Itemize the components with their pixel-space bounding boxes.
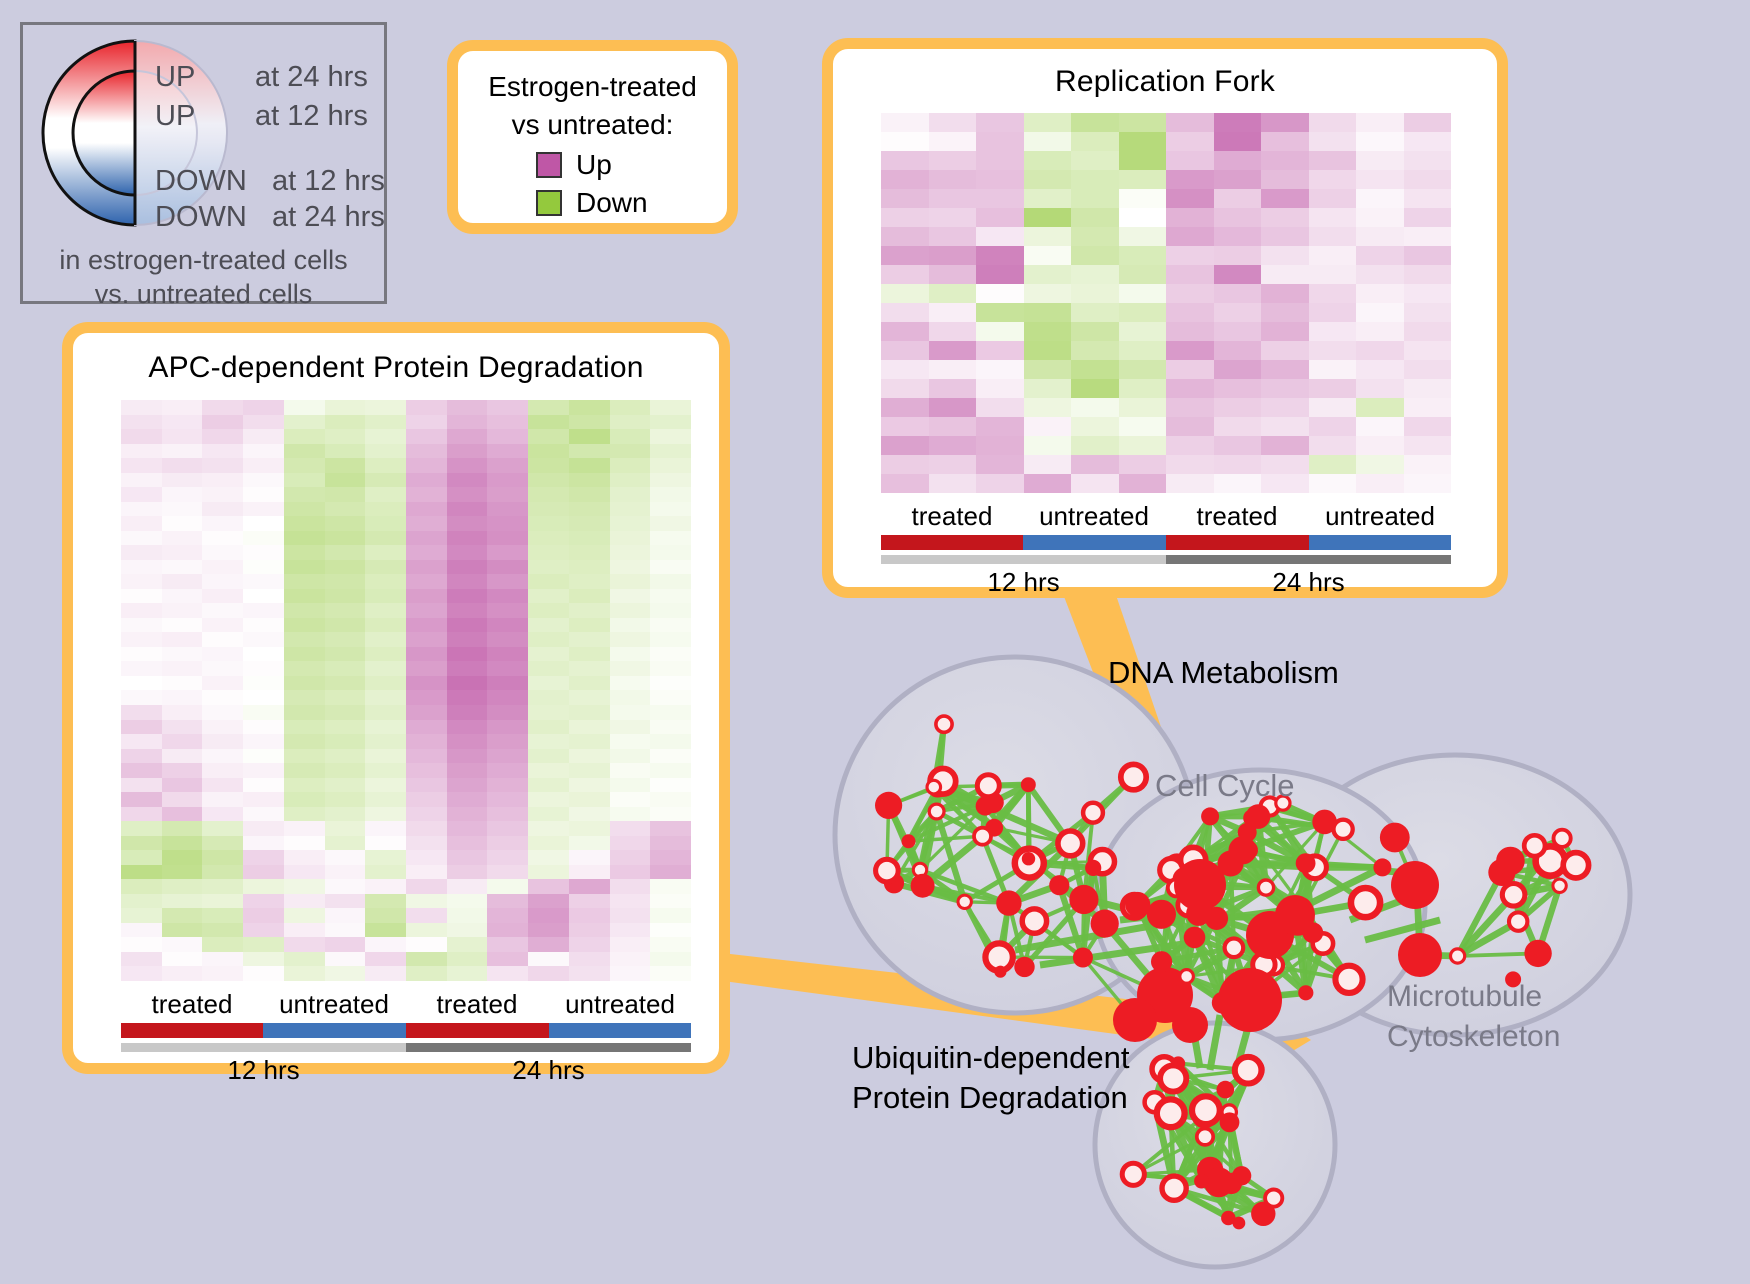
- heatmap-cell: [1071, 189, 1119, 208]
- heatmap-cell: [365, 937, 406, 952]
- heatmap-cell: [162, 763, 203, 778]
- heatmap-cell: [528, 850, 569, 865]
- heatmap-cell: [162, 821, 203, 836]
- heatmap-cell: [1356, 265, 1404, 284]
- heatmap-cell: [569, 618, 610, 633]
- heatmap-cell: [650, 807, 691, 822]
- heatmap-cell: [121, 894, 162, 909]
- heatmap-cell: [284, 792, 325, 807]
- heatmap-cell: [929, 208, 977, 227]
- heatmap-cell: [284, 734, 325, 749]
- heatmap-cell: [929, 398, 977, 417]
- heatmap-cell: [487, 574, 528, 589]
- heatmap-cell: [162, 502, 203, 517]
- heatmap-cell: [447, 908, 488, 923]
- heatmap-cell: [162, 647, 203, 662]
- heatmap-cell: [202, 807, 243, 822]
- heatmap-cell: [1261, 227, 1309, 246]
- heatmap-cell: [929, 265, 977, 284]
- heatmap-cell: [202, 937, 243, 952]
- heatmap-cell: [1214, 455, 1262, 474]
- heatmap-cell: [202, 618, 243, 633]
- heatmap-cell: [325, 415, 366, 430]
- heatmap-cell: [447, 923, 488, 938]
- heatmap-cell: [650, 429, 691, 444]
- heatmap-cell: [1166, 151, 1214, 170]
- heatmap-cell: [1356, 284, 1404, 303]
- heatmap-cell: [650, 894, 691, 909]
- heatmap-cell: [243, 734, 284, 749]
- heatmap-cell: [929, 417, 977, 436]
- heatmap-cell: [243, 632, 284, 647]
- heatmap-cell: [243, 690, 284, 705]
- heatmap-cell: [610, 632, 651, 647]
- heatmap-cell: [1214, 474, 1262, 493]
- apc-time-bar-12hrs: [121, 1043, 406, 1052]
- heatmap-cell: [650, 836, 691, 851]
- heatmap-cell: [365, 792, 406, 807]
- heatmap-cell: [447, 749, 488, 764]
- heatmap-cell: [929, 474, 977, 493]
- heatmap-cell: [1119, 151, 1167, 170]
- heatmap-cell: [365, 545, 406, 560]
- heatmap-cell: [243, 444, 284, 459]
- heatmap-cell: [202, 850, 243, 865]
- heatmap-cell: [121, 661, 162, 676]
- heatmap-replication-fork: [881, 113, 1451, 493]
- heatmap-cell: [610, 937, 651, 952]
- heatmap-cell: [1166, 436, 1214, 455]
- heatmap-cell: [881, 132, 929, 151]
- heatmap-cell: [528, 444, 569, 459]
- heatmap-cell: [284, 908, 325, 923]
- heatmap-cell: [569, 444, 610, 459]
- heatmap-cell: [447, 647, 488, 662]
- heatmap-cell: [1119, 208, 1167, 227]
- heatmap-cell: [162, 937, 203, 952]
- heatmap-cell: [365, 821, 406, 836]
- heatmap-cell: [610, 444, 651, 459]
- heatmap-cell: [1214, 284, 1262, 303]
- heatmap-cell: [1356, 398, 1404, 417]
- heatmap-cell: [610, 400, 651, 415]
- heatmap-cell: [1024, 265, 1072, 284]
- heatmap-cell: [121, 850, 162, 865]
- heatmap-cell: [1071, 436, 1119, 455]
- heatmap-cell: [284, 850, 325, 865]
- heatmap-cell: [1166, 417, 1214, 436]
- heatmap-cell: [610, 560, 651, 575]
- heatmap-cell: [976, 360, 1024, 379]
- heatmap-cell: [202, 821, 243, 836]
- heatmap-cell: [1071, 170, 1119, 189]
- heatmap-cell: [325, 473, 366, 488]
- heatmap-cell: [610, 850, 651, 865]
- heatmap-cell: [1309, 208, 1357, 227]
- heatmap-cell: [325, 444, 366, 459]
- heatmap-cell: [162, 574, 203, 589]
- heatmap-cell: [1309, 341, 1357, 360]
- heatmap-cell: [202, 400, 243, 415]
- heatmap-cell: [325, 952, 366, 967]
- heatmap-cell: [121, 502, 162, 517]
- heatmap-cell: [1166, 189, 1214, 208]
- heatmap-cell: [325, 647, 366, 662]
- heatmap-cell: [528, 865, 569, 880]
- heatmap-cell: [447, 865, 488, 880]
- heatmap-cell: [1309, 227, 1357, 246]
- heatmap-cell: [929, 303, 977, 322]
- heatmap-cell: [325, 429, 366, 444]
- heatmap-cell: [569, 720, 610, 735]
- heatmap-cell: [1356, 170, 1404, 189]
- heatmap-cell: [325, 937, 366, 952]
- heatmap-cell: [202, 487, 243, 502]
- heatmap-cell: [650, 458, 691, 473]
- rep-group-label-0: treated: [881, 501, 1023, 532]
- heatmap-cell: [881, 360, 929, 379]
- heatmap-cell: [650, 661, 691, 676]
- heatmap-cell: [121, 574, 162, 589]
- heatmap-cell: [243, 458, 284, 473]
- apc-group-bar-1: [263, 1023, 406, 1038]
- heatmap-cell: [365, 894, 406, 909]
- heatmap-cell: [528, 661, 569, 676]
- heatmap-cell: [881, 303, 929, 322]
- heatmap-cell: [881, 436, 929, 455]
- heatmap-cell: [202, 894, 243, 909]
- heatmap-cell: [650, 865, 691, 880]
- heatmap-cell: [1214, 379, 1262, 398]
- heatmap-cell: [202, 734, 243, 749]
- heatmap-cell: [650, 603, 691, 618]
- heatmap-cell: [487, 690, 528, 705]
- heatmap-cell: [243, 618, 284, 633]
- heatmap-cell: [162, 966, 203, 981]
- heatmap-cell: [610, 966, 651, 981]
- heatmap-cell: [365, 734, 406, 749]
- panel-replication-fork: Replication Fork treated untreated treat…: [822, 38, 1508, 598]
- heatmap-cell: [487, 415, 528, 430]
- heatmap-cell: [569, 792, 610, 807]
- heatmap-cell: [487, 952, 528, 967]
- cluster-label-cell-cycle: Cell Cycle: [1155, 768, 1295, 804]
- heatmap-cell: [569, 778, 610, 793]
- heatmap-cell: [569, 560, 610, 575]
- heatmap-cell: [650, 618, 691, 633]
- heatmap-cell: [929, 322, 977, 341]
- heatmap-cell: [487, 778, 528, 793]
- heatmap-cell: [121, 792, 162, 807]
- heatmap-cell: [1309, 474, 1357, 493]
- rep-group-bar-0: [881, 535, 1023, 550]
- heatmap-cell: [610, 792, 651, 807]
- heatmap-cell: [406, 531, 447, 546]
- heatmap-cell: [1309, 246, 1357, 265]
- heatmap-cell: [284, 632, 325, 647]
- heatmap-cell: [1024, 341, 1072, 360]
- heatmap-cell: [1071, 246, 1119, 265]
- heatmap-cell: [1119, 474, 1167, 493]
- heatmap-cell: [528, 734, 569, 749]
- heatmap-cell: [528, 574, 569, 589]
- heatmap-cell: [284, 502, 325, 517]
- heatmap-cell: [365, 487, 406, 502]
- heatmap-cell: [1356, 360, 1404, 379]
- heatmap-cell: [121, 952, 162, 967]
- heatmap-cell: [365, 850, 406, 865]
- heatmap-cell: [929, 360, 977, 379]
- heatmap-cell: [365, 444, 406, 459]
- heatmap-cell: [650, 720, 691, 735]
- heatmap-cell: [569, 879, 610, 894]
- heatmap-cell: [243, 487, 284, 502]
- heatmap-cell: [650, 908, 691, 923]
- heatmap-cell: [569, 415, 610, 430]
- heatmap-cell: [1356, 227, 1404, 246]
- heatmap-cell: [528, 676, 569, 691]
- heatmap-cell: [1119, 398, 1167, 417]
- heatmap-cell: [528, 632, 569, 647]
- heatmap-cell: [284, 444, 325, 459]
- heatmap-cell: [1119, 284, 1167, 303]
- heatmap-cell: [976, 341, 1024, 360]
- heatmap-cell: [1261, 208, 1309, 227]
- heatmap-cell: [1071, 322, 1119, 341]
- heatmap-cell: [650, 879, 691, 894]
- heatmap-cell: [487, 792, 528, 807]
- heatmap-cell: [162, 560, 203, 575]
- heatmap-cell: [528, 400, 569, 415]
- panel-apc-title: APC-dependent Protein Degradation: [73, 351, 719, 385]
- heatmap-cell: [1119, 132, 1167, 151]
- heatmap-cell: [1261, 474, 1309, 493]
- heatmap-cell: [121, 778, 162, 793]
- heatmap-cell: [121, 618, 162, 633]
- heatmap-cell: [650, 690, 691, 705]
- heatmap-cell: [650, 589, 691, 604]
- heatmap-cell: [650, 734, 691, 749]
- heatmap-cell: [569, 763, 610, 778]
- heatmap-cell: [162, 487, 203, 502]
- heatmap-cell: [487, 531, 528, 546]
- heatmap-cell: [284, 763, 325, 778]
- heatmap-cell: [406, 516, 447, 531]
- heatmap-cell: [284, 487, 325, 502]
- heatmap-cell: [929, 379, 977, 398]
- heatmap-cell: [202, 661, 243, 676]
- heatmap-cell: [447, 676, 488, 691]
- heatmap-cell: [650, 516, 691, 531]
- heatmap-cell: [202, 458, 243, 473]
- heatmap-cell: [1356, 436, 1404, 455]
- heatmap-cell: [528, 429, 569, 444]
- heatmap-cell: [202, 632, 243, 647]
- heatmap-cell: [162, 415, 203, 430]
- heatmap-cell: [121, 807, 162, 822]
- heatmap-cell: [447, 415, 488, 430]
- heatmap-cell: [1261, 455, 1309, 474]
- heatmap-cell: [569, 807, 610, 822]
- heatmap-cell: [284, 836, 325, 851]
- heatmap-cell: [162, 792, 203, 807]
- heatmap-cell: [202, 415, 243, 430]
- heatmap-cell: [162, 952, 203, 967]
- heatmap-cell: [447, 807, 488, 822]
- heatmap-cell: [1309, 398, 1357, 417]
- heatmap-cell: [243, 574, 284, 589]
- heatmap-cell: [1166, 170, 1214, 189]
- heatmap-cell: [447, 545, 488, 560]
- heatmap-cell: [569, 603, 610, 618]
- heatmap-cell: [406, 763, 447, 778]
- heatmap-cell: [650, 560, 691, 575]
- heatmap-cell: [569, 923, 610, 938]
- heatmap-cell: [1119, 246, 1167, 265]
- heatmap-cell: [1309, 132, 1357, 151]
- heatmap-cell: [1261, 398, 1309, 417]
- heatmap-cell: [929, 284, 977, 303]
- heatmap-cell: [1261, 170, 1309, 189]
- heatmap-cell: [1119, 170, 1167, 189]
- heatmap-cell: [162, 749, 203, 764]
- heatmap-cell: [202, 531, 243, 546]
- heatmap-cell: [650, 937, 691, 952]
- apc-group-bar-2: [406, 1023, 549, 1038]
- heatmap-cell: [1214, 341, 1262, 360]
- heatmap-cell: [976, 379, 1024, 398]
- heatmap-cell: [406, 502, 447, 517]
- heatmap-cell: [243, 865, 284, 880]
- heatmap-cell: [610, 705, 651, 720]
- heatmap-cell: [243, 807, 284, 822]
- heatmap-cell: [121, 444, 162, 459]
- heatmap-cell: [569, 749, 610, 764]
- heatmap-cell: [1261, 417, 1309, 436]
- heatmap-cell: [610, 676, 651, 691]
- heatmap-cell: [929, 436, 977, 455]
- heatmap-cell: [365, 618, 406, 633]
- heatmap-cell: [202, 574, 243, 589]
- heatmap-cell: [284, 821, 325, 836]
- heatmap-cell: [202, 560, 243, 575]
- heatmap-cell: [325, 516, 366, 531]
- heatmap-cell: [1024, 360, 1072, 379]
- heatmap-cell: [1119, 360, 1167, 379]
- heatmap-cell: [1404, 284, 1452, 303]
- heatmap-cell: [121, 560, 162, 575]
- heatmap-cell: [650, 850, 691, 865]
- heatmap-cell: [406, 821, 447, 836]
- heatmap-cell: [406, 400, 447, 415]
- heatmap-cell: [487, 879, 528, 894]
- heatmap-cell: [243, 821, 284, 836]
- cluster-label-dna-metabolism: DNA Metabolism: [1108, 655, 1339, 691]
- heatmap-cell: [325, 749, 366, 764]
- rep-time-bar-12hrs: [881, 555, 1166, 564]
- heatmap-cell: [1404, 455, 1452, 474]
- heatmap-cell: [243, 966, 284, 981]
- heatmap-cell: [121, 879, 162, 894]
- heatmap-cell: [121, 415, 162, 430]
- heatmap-cell: [976, 303, 1024, 322]
- heatmap-cell: [1356, 379, 1404, 398]
- heatmap-cell: [1166, 265, 1214, 284]
- heatmap-cell: [284, 661, 325, 676]
- heatmap-cell: [284, 966, 325, 981]
- heatmap-cell: [487, 821, 528, 836]
- heatmap-cell: [1404, 417, 1452, 436]
- heatmap-cell: [406, 487, 447, 502]
- heatmap-cell: [325, 574, 366, 589]
- heatmap-cell: [284, 400, 325, 415]
- heatmap-cell: [1404, 379, 1452, 398]
- heatmap-cell: [1071, 132, 1119, 151]
- heatmap-cell: [325, 821, 366, 836]
- heatmap-cell: [447, 836, 488, 851]
- heatmap-cell: [447, 531, 488, 546]
- heatmap-cell: [406, 749, 447, 764]
- heatmap-cell: [1166, 303, 1214, 322]
- heatmap-cell: [325, 560, 366, 575]
- heatmap-cell: [1166, 113, 1214, 132]
- heatmap-cell: [447, 763, 488, 778]
- panel-replication-fork-title: Replication Fork: [833, 65, 1497, 99]
- heatmap-cell: [1261, 284, 1309, 303]
- heatmap-cell: [406, 792, 447, 807]
- heatmap-cell: [487, 734, 528, 749]
- heatmap-cell: [284, 618, 325, 633]
- heatmap-cell: [284, 749, 325, 764]
- heatmap-cell: [243, 923, 284, 938]
- heatmap-cell: [162, 894, 203, 909]
- heatmap-cell: [243, 705, 284, 720]
- heatmap-cell: [1166, 379, 1214, 398]
- heatmap-cell: [569, 574, 610, 589]
- heatmap-cell: [243, 502, 284, 517]
- heatmap-cell: [528, 908, 569, 923]
- heatmap-cell: [202, 589, 243, 604]
- heatmap-cell: [1404, 113, 1452, 132]
- heatmap-cell: [528, 952, 569, 967]
- heatmap-cell: [162, 531, 203, 546]
- heatmap-cell: [202, 865, 243, 880]
- heatmap-cell: [284, 429, 325, 444]
- heatmap-cell: [610, 618, 651, 633]
- heatmap-cell: [325, 690, 366, 705]
- heatmap-cell: [610, 589, 651, 604]
- heatmap-cell: [1356, 322, 1404, 341]
- heatmap-cell: [610, 690, 651, 705]
- heatmap-cell: [650, 821, 691, 836]
- rep-group-label-3: untreated: [1309, 501, 1451, 532]
- heatmap-cell: [487, 923, 528, 938]
- heatmap-cell: [881, 227, 929, 246]
- heatmap-cell: [528, 879, 569, 894]
- heatmap-cell: [1404, 189, 1452, 208]
- heatmap-cell: [447, 734, 488, 749]
- heatmap-cell: [1404, 322, 1452, 341]
- heatmap-cell: [1119, 322, 1167, 341]
- heatmap-cell: [447, 778, 488, 793]
- heatmap-cell: [447, 894, 488, 909]
- heatmap-cell: [881, 455, 929, 474]
- heatmap-cell: [284, 807, 325, 822]
- heatmap-cell: [610, 908, 651, 923]
- heatmap-cell: [610, 545, 651, 560]
- heatmap-cell: [325, 850, 366, 865]
- heatmap-cell: [1356, 417, 1404, 436]
